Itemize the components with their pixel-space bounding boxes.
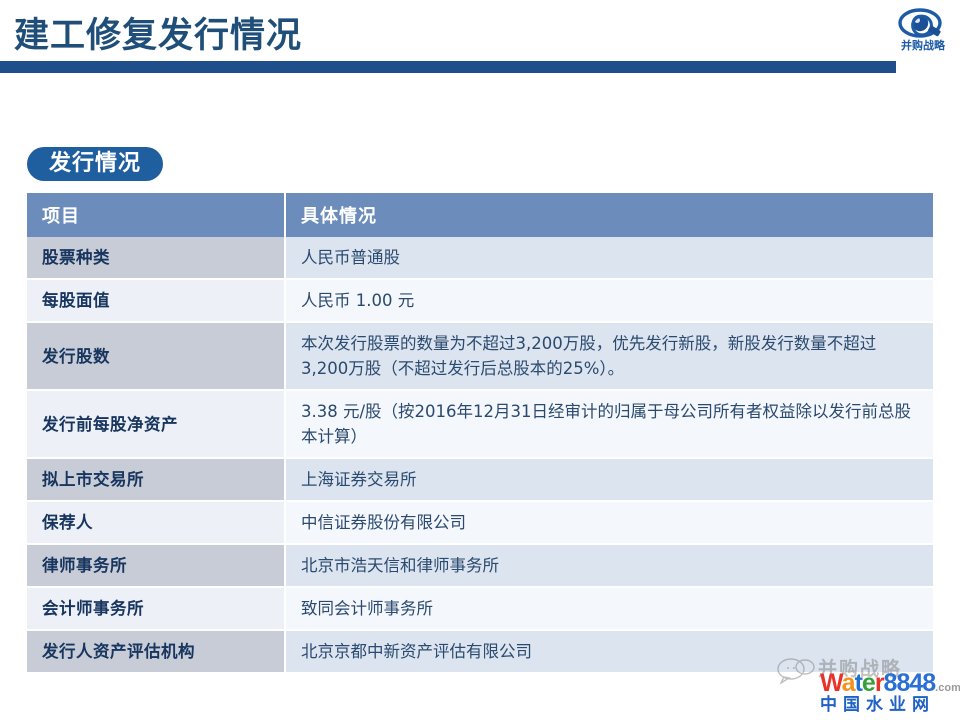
watermark-group: 并购战略 Water8848.com 中国水业网 <box>772 646 958 718</box>
eye-magnifier-logo-icon <box>892 4 954 42</box>
slide-root: 建工修复发行情况 并购战略 发行情况 项目 具体情况 股票种类人民币普通股每股面… <box>0 0 960 720</box>
table-cell-item: 发行股数 <box>27 322 285 390</box>
table-row: 拟上市交易所上海证券交易所 <box>27 458 933 501</box>
wordmark-number: 8848 <box>884 669 936 697</box>
table-cell-item: 会计师事务所 <box>27 587 285 630</box>
table-cell-item: 律师事务所 <box>27 544 285 587</box>
brand-logo-label: 并购战略 <box>892 40 954 52</box>
table-row: 会计师事务所致同会计师事务所 <box>27 587 933 630</box>
speech-bubble-icon <box>776 656 816 684</box>
table-row: 股票种类人民币普通股 <box>27 237 933 279</box>
table-row: 每股面值人民币 1.00 元 <box>27 279 933 322</box>
column-header-detail: 具体情况 <box>285 193 933 237</box>
table-cell-detail: 本次发行股票的数量为不超过3,200万股，优先发行新股，新股发行数量不超过3,2… <box>285 322 933 390</box>
table-cell-item: 发行前每股净资产 <box>27 390 285 458</box>
column-header-item: 项目 <box>27 193 285 237</box>
wordmark-tld: .com <box>935 682 960 694</box>
watermark-brand-cn: 中国水业网 <box>820 696 935 714</box>
table-cell-item: 保荐人 <box>27 501 285 544</box>
table-header-row: 项目 具体情况 <box>27 193 933 237</box>
wordmark-letter-e: e <box>862 669 875 697</box>
table-row: 保荐人中信证券股份有限公司 <box>27 501 933 544</box>
table-row: 律师事务所北京市浩天信和律师事务所 <box>27 544 933 587</box>
table-cell-detail: 北京市浩天信和律师事务所 <box>285 544 933 587</box>
table-cell-detail: 致同会计师事务所 <box>285 587 933 630</box>
table-cell-item: 拟上市交易所 <box>27 458 285 501</box>
table-cell-item: 股票种类 <box>27 237 285 279</box>
table-cell-detail: 人民币普通股 <box>285 237 933 279</box>
title-underline-bar <box>0 61 896 73</box>
table-cell-detail: 上海证券交易所 <box>285 458 933 501</box>
brand-logo: 并购战略 <box>892 4 954 62</box>
table-body: 股票种类人民币普通股每股面值人民币 1.00 元发行股数本次发行股票的数量为不超… <box>27 237 933 673</box>
wordmark-letter-r: r <box>875 669 884 697</box>
wordmark-letter-t: t <box>855 669 862 697</box>
table-cell-item: 每股面值 <box>27 279 285 322</box>
table-row: 发行股数本次发行股票的数量为不超过3,200万股，优先发行新股，新股发行数量不超… <box>27 322 933 390</box>
section-badge-issuance: 发行情况 <box>27 147 163 181</box>
issuance-spec-table: 项目 具体情况 股票种类人民币普通股每股面值人民币 1.00 元发行股数本次发行… <box>27 193 933 674</box>
table-cell-detail: 人民币 1.00 元 <box>285 279 933 322</box>
table-row: 发行前每股净资产3.38 元/股（按2016年12月31日经审计的归属于母公司所… <box>27 390 933 458</box>
table-cell-detail: 中信证券股份有限公司 <box>285 501 933 544</box>
table-cell-item: 发行人资产评估机构 <box>27 630 285 673</box>
wordmark-letter-a: a <box>842 669 855 697</box>
table-cell-detail: 3.38 元/股（按2016年12月31日经审计的归属于母公司所有者权益除以发行… <box>285 390 933 458</box>
wordmark-letter-w: W <box>820 669 842 697</box>
page-title: 建工修复发行情况 <box>14 14 302 58</box>
